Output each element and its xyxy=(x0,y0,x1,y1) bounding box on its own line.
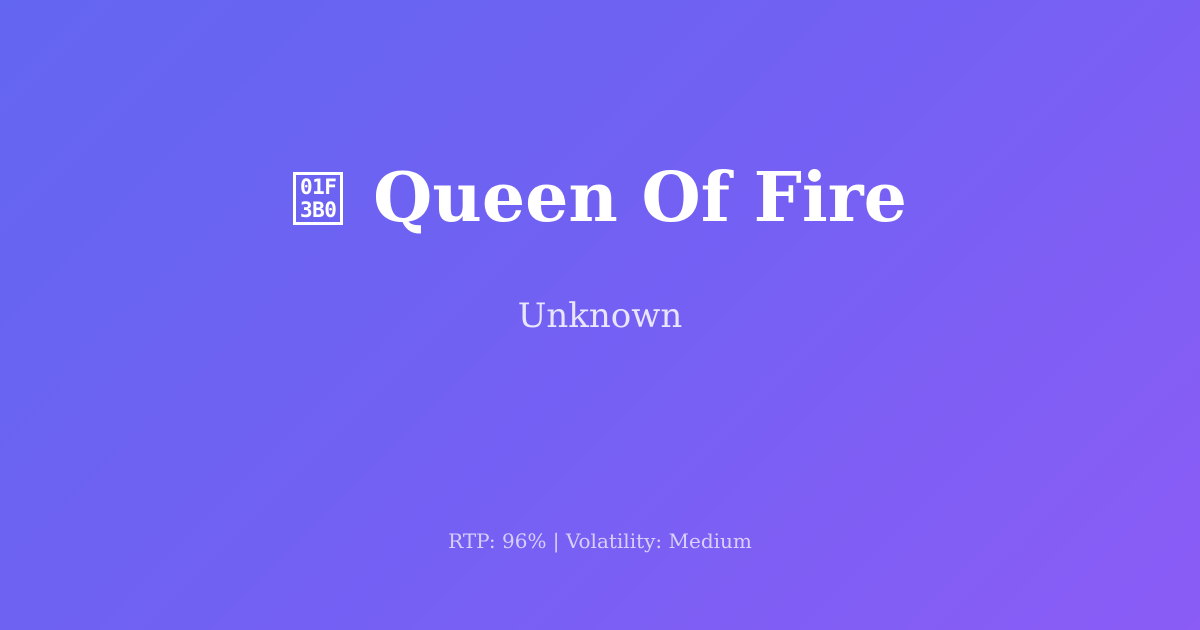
hero-block: 01F 3B0 Queen Of Fire Unknown xyxy=(0,0,1200,500)
title-row: 01F 3B0 Queen Of Fire xyxy=(293,163,907,234)
slot-machine-icon: 01F 3B0 xyxy=(293,172,343,225)
tofu-codepoint-bottom: 3B0 xyxy=(300,200,336,221)
game-stats-meta: RTP: 96% | Volatility: Medium xyxy=(448,528,752,554)
og-share-card: 01F 3B0 Queen Of Fire Unknown RTP: 96% |… xyxy=(0,0,1200,630)
footer-block: RTP: 96% | Volatility: Medium xyxy=(0,528,1200,554)
provider-subtitle: Unknown xyxy=(518,296,683,337)
page-title: Queen Of Fire xyxy=(373,163,907,234)
tofu-codepoint-top: 01F xyxy=(300,177,336,198)
